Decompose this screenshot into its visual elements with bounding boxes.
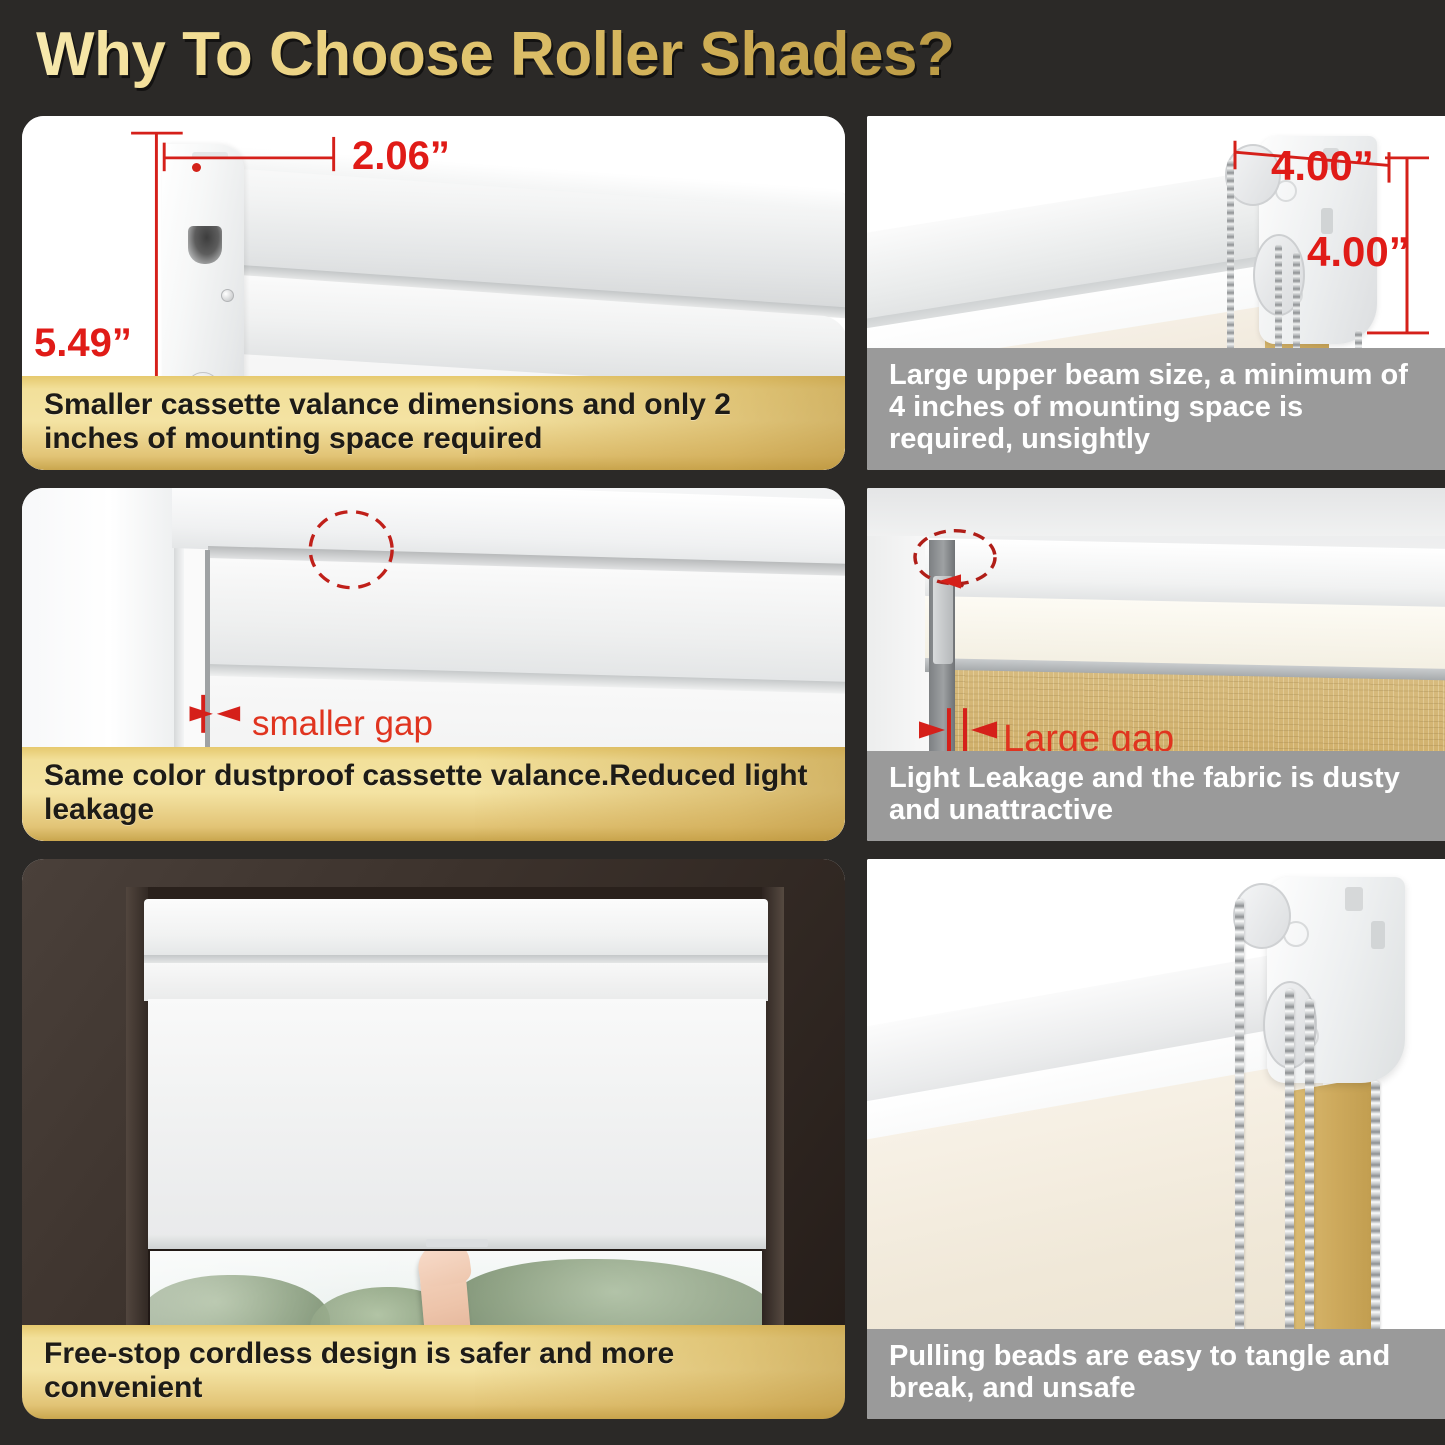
- dimension-anchor-dot: [192, 163, 201, 172]
- page-title: Why To Choose Roller Shades?: [36, 19, 954, 90]
- panel-caption-bad-1: Large upper beam size, a minimum of 4 in…: [867, 348, 1445, 470]
- panel-caption-bad-2: Light Leakage and the fabric is dusty an…: [867, 751, 1445, 841]
- shade-fabric-main: [148, 999, 766, 1239]
- panel-pulling-beads: Pulling beads are easy to tangle and bre…: [867, 859, 1445, 1419]
- bracket-notch-a: [1345, 887, 1363, 911]
- panel-caption-good-2: Same color dustproof cassette valance.Re…: [22, 747, 845, 841]
- edge-hardware: [933, 576, 953, 664]
- bracket-slot-top: [192, 152, 228, 159]
- panel-caption-good-3: Free-stop cordless design is safer and m…: [22, 1325, 845, 1419]
- head-cassette: [144, 899, 768, 959]
- smaller-gap-label: smaller gap: [252, 704, 433, 744]
- bracket-notch-b: [1371, 921, 1385, 949]
- dimension-label-height: 5.49”: [34, 321, 132, 366]
- head-cassette-lower: [144, 963, 768, 1001]
- beam-height-label: 4.00”: [1307, 228, 1410, 276]
- panel-large-beam: 4.00” 4.00” Large upper beam size, a min…: [867, 116, 1445, 470]
- bracket-screw-icon: [221, 289, 234, 302]
- page-header: Why To Choose Roller Shades?: [0, 0, 1445, 108]
- panel-caption-bad-3: Pulling beads are easy to tangle and bre…: [867, 1329, 1445, 1419]
- panel-smaller-gap: smaller gap Same color dustproof cassett…: [22, 488, 845, 841]
- panel-cordless-design: Free-stop cordless design is safer and m…: [22, 859, 845, 1419]
- bracket-mechanism-port: [188, 226, 222, 264]
- panel-caption-good-1: Smaller cassette valance dimensions and …: [22, 376, 845, 470]
- rail-grip-tab: [426, 1239, 488, 1247]
- panel-large-gap: Large gap Light Leakage and the fabric i…: [867, 488, 1445, 841]
- beam-width-label: 4.00”: [1271, 142, 1374, 190]
- wall-top: [867, 488, 1445, 536]
- panel-smaller-cassette: 2.06” 5.49” Smaller cassette valance dim…: [22, 116, 845, 470]
- dimension-label-width: 2.06”: [352, 134, 450, 179]
- comparison-grid: 2.06” 5.49” Smaller cassette valance dim…: [0, 108, 1445, 1445]
